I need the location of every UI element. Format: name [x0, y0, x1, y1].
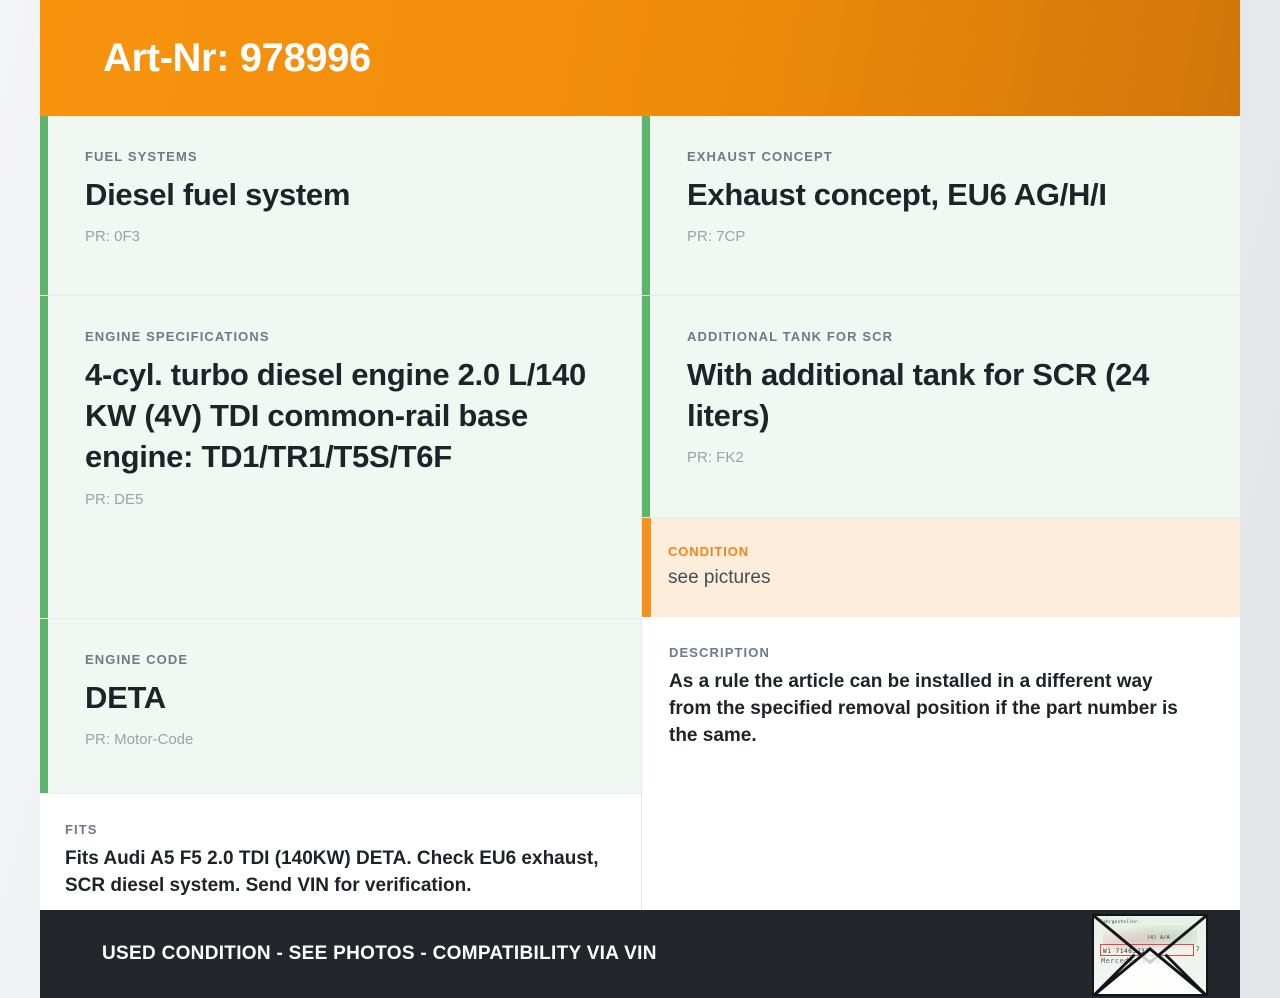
product-spec-sheet: Art-Nr: 978996 FUEL SYSTEMS Diesel fuel … [40, 0, 1240, 998]
envelope-icon [1094, 916, 1206, 995]
spec-card-exhaust-concept: EXHAUST CONCEPT Exhaust concept, EU6 AG/… [642, 116, 1240, 296]
condition-card: CONDITION see pictures [642, 518, 1240, 617]
spec-card-pr-code: PR: 0F3 [85, 228, 601, 245]
spec-card-pr-code: PR: Motor-Code [85, 731, 601, 748]
spec-card-engine-code: ENGINE CODE DETA PR: Motor-Code [40, 619, 641, 794]
spec-card-label: EXHAUST CONCEPT [687, 149, 1200, 164]
spec-card-label: ENGINE CODE [85, 652, 601, 667]
left-column: FUEL SYSTEMS Diesel fuel system PR: 0F3 … [40, 116, 642, 910]
fits-label: FITS [65, 822, 601, 837]
condition-value: see pictures [668, 567, 1200, 589]
footer-text: USED CONDITION - SEE PHOTOS - COMPATIBIL… [40, 943, 657, 965]
spec-card-value: With additional tank for SCR (24 liters) [687, 354, 1200, 436]
description-text: As a rule the article can be installed i… [669, 669, 1200, 750]
spec-card-label: ENGINE SPECIFICATIONS [85, 329, 601, 344]
page-title: Art-Nr: 978996 [40, 36, 371, 81]
spec-card-pr-code: PR: DE5 [85, 491, 601, 508]
spec-card-value: 4-cyl. turbo diesel engine 2.0 L/140 KW … [85, 354, 601, 478]
spec-card-fuel-systems: FUEL SYSTEMS Diesel fuel system PR: 0F3 [40, 116, 641, 296]
description-label: DESCRIPTION [669, 645, 1200, 660]
description-panel: DESCRIPTION As a rule the article can be… [642, 617, 1240, 910]
spec-card-value: Exhaust concept, EU6 AG/H/I [687, 174, 1200, 215]
spec-columns: FUEL SYSTEMS Diesel fuel system PR: 0F3 … [40, 116, 1240, 910]
spec-card-label: ADDITIONAL TANK FOR SCR [687, 329, 1200, 344]
spec-card-value: Diesel fuel system [85, 174, 601, 215]
vin-document-thumbnail: Fahrgestellnr. (4) A/A W1 71463J31 7 Mer… [1092, 914, 1208, 996]
spec-card-additional-tank-scr: ADDITIONAL TANK FOR SCR With additional … [642, 296, 1240, 518]
right-column: EXHAUST CONCEPT Exhaust concept, EU6 AG/… [642, 116, 1240, 910]
fits-panel: FITS Fits Audi A5 F5 2.0 TDI (140KW) DET… [40, 794, 641, 926]
fits-text: Fits Audi A5 F5 2.0 TDI (140KW) DETA. Ch… [65, 846, 601, 900]
spec-card-label: FUEL SYSTEMS [85, 149, 601, 164]
spec-card-value: DETA [85, 677, 601, 718]
footer-banner: USED CONDITION - SEE PHOTOS - COMPATIBIL… [40, 910, 1240, 998]
spec-card-pr-code: PR: FK2 [687, 449, 1200, 466]
condition-label: CONDITION [668, 544, 1200, 559]
spec-card-engine-specifications: ENGINE SPECIFICATIONS 4-cyl. turbo diese… [40, 296, 641, 619]
header-bar: Art-Nr: 978996 [40, 0, 1240, 116]
spec-card-pr-code: PR: 7CP [687, 228, 1200, 245]
